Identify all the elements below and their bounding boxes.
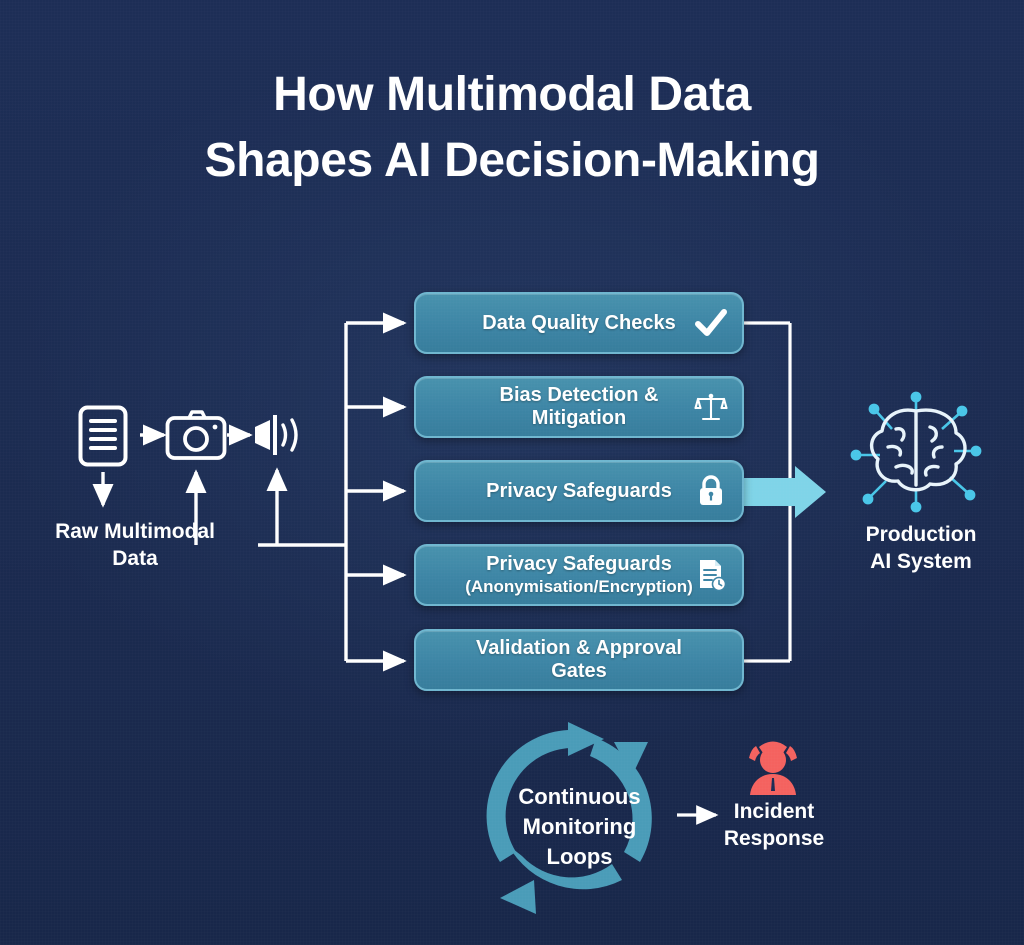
camera-icon: [165, 408, 227, 466]
pipeline-card-label-line-2: Mitigation: [532, 407, 626, 429]
title-line-2: Shapes AI Decision-Making: [0, 128, 1024, 194]
incident-label-line-1: Incident: [694, 798, 854, 825]
pipeline-card-data-quality-checks[interactable]: Data Quality Checks: [414, 292, 744, 354]
monitoring-label-line-3: Loops: [487, 842, 672, 872]
scales-icon: [694, 390, 728, 424]
document-icon: [78, 405, 128, 467]
pipeline-card-privacy-safeguards[interactable]: Privacy Safeguards: [414, 460, 744, 522]
pipeline-card-label: Bias Detection & Mitigation: [500, 384, 659, 430]
incident-label-line-2: Response: [694, 825, 854, 852]
pipeline-card-bias-detection[interactable]: Bias Detection & Mitigation: [414, 376, 744, 438]
page-title: How Multimodal Data Shapes AI Decision-M…: [0, 62, 1024, 194]
monitoring-label-line-2: Monitoring: [487, 812, 672, 842]
infographic-canvas: How Multimodal Data Shapes AI Decision-M…: [0, 0, 1024, 945]
pipeline-card-label-line-1: Validation & Approval: [476, 637, 682, 659]
brain-circuit-icon: [846, 385, 986, 515]
document-clock-icon: [694, 558, 728, 592]
pipeline-card-label: Privacy Safeguards: [486, 480, 672, 503]
incident-label: Incident Response: [694, 798, 854, 852]
production-label-line-1: Production: [826, 521, 1016, 548]
check-icon: [694, 306, 728, 340]
pipeline-card-label: Validation & Approval Gates: [476, 637, 682, 683]
source-label: Raw Multimodal Data: [20, 518, 250, 572]
audio-speaker-icon: [252, 412, 304, 458]
source-label-line-1: Raw Multimodal: [20, 518, 250, 545]
pipeline-card-label: Data Quality Checks: [482, 312, 675, 335]
pipeline-card-label-line-1: Bias Detection &: [500, 384, 659, 406]
title-line-1: How Multimodal Data: [0, 62, 1024, 128]
pipeline-card-label-line-2: Gates: [551, 660, 607, 682]
pipeline-card-label: Privacy Safeguards (Anonymisation/Encryp…: [465, 553, 693, 597]
production-label-line-2: AI System: [826, 548, 1016, 575]
monitoring-label-line-1: Continuous: [487, 782, 672, 812]
production-label: Production AI System: [826, 521, 1016, 575]
pipeline-card-sublabel: (Anonymisation/Encryption): [465, 576, 693, 597]
incident-alert-person-icon: [738, 733, 808, 799]
lock-icon: [694, 474, 728, 508]
monitoring-label: Continuous Monitoring Loops: [487, 782, 672, 872]
pipeline-card-privacy-anonymisation[interactable]: Privacy Safeguards (Anonymisation/Encryp…: [414, 544, 744, 606]
pipeline-card-validation-approval[interactable]: Validation & Approval Gates: [414, 629, 744, 691]
source-label-line-2: Data: [20, 545, 250, 572]
pipeline-card-label-line-1: Privacy Safeguards: [486, 553, 672, 575]
